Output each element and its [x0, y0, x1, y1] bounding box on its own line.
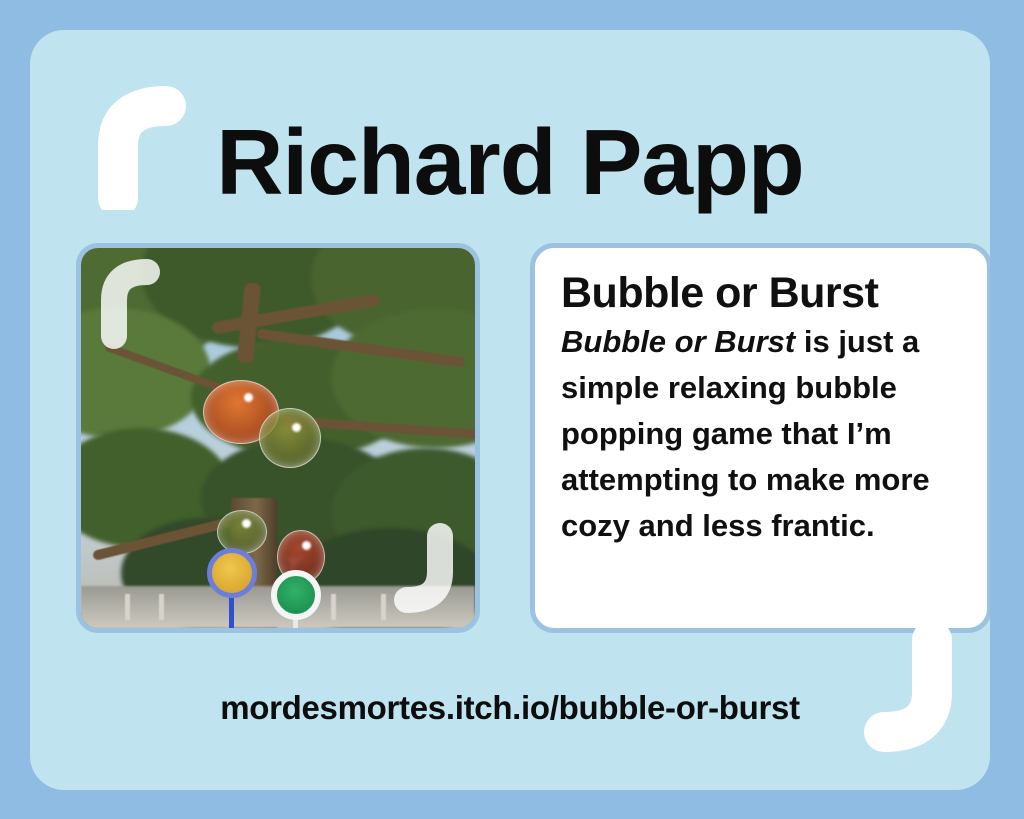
- bubble-green: [217, 510, 267, 554]
- poster: Richard Papp: [0, 0, 1024, 819]
- game-description-emphasis: Bubble or Burst: [561, 324, 795, 359]
- photo-canvas: [81, 248, 475, 628]
- wand-stick-blue: [229, 593, 234, 628]
- inner-card: Richard Papp: [30, 30, 990, 790]
- wand-ring-blue: [207, 548, 257, 598]
- game-title: Bubble or Burst: [561, 270, 961, 317]
- page-title: Richard Papp: [30, 116, 990, 209]
- game-description: Bubble or Burst is just a simple relaxin…: [561, 319, 961, 548]
- game-screenshot: [76, 243, 480, 633]
- bubble-olive: [259, 408, 321, 468]
- wand-ring-white: [271, 570, 321, 620]
- game-url[interactable]: mordesmortes.itch.io/bubble-or-burst: [30, 689, 990, 727]
- content-row: Bubble or Burst Bubble or Burst is just …: [76, 243, 990, 635]
- game-info-card: Bubble or Burst Bubble or Burst is just …: [530, 243, 990, 633]
